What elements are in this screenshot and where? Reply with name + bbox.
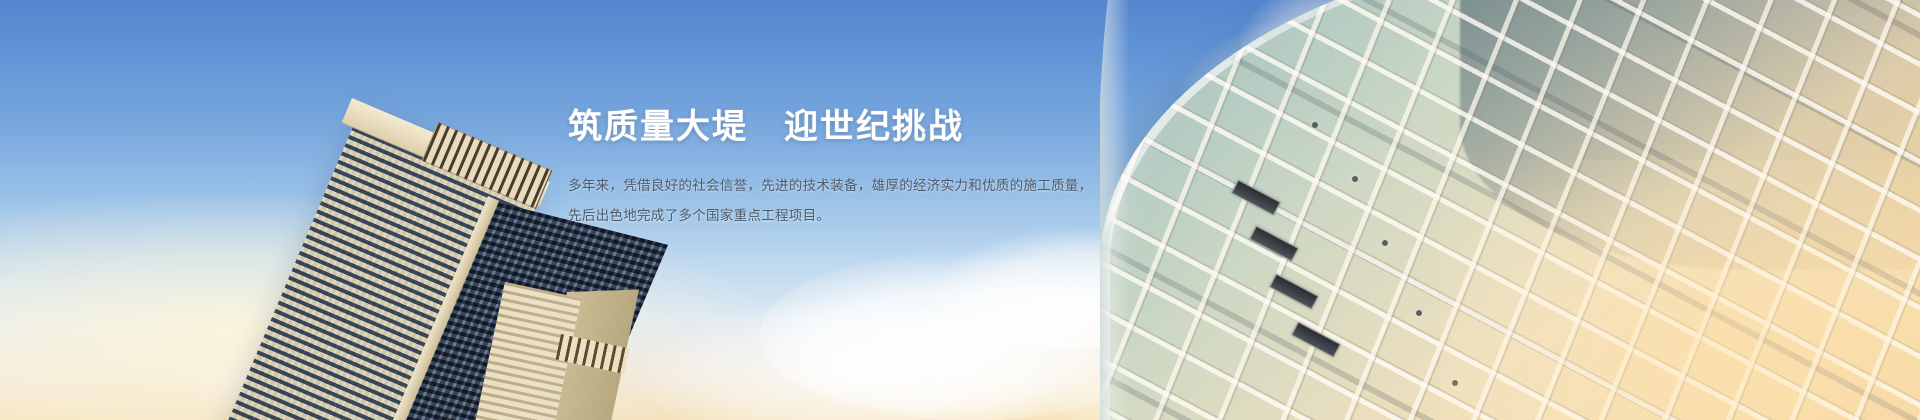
banner-copy: 筑质量大堤 迎世纪挑战 多年来，凭借良好的社会信誉，先进的技术装备，雄厚的经济实… [568, 105, 1128, 231]
right-building-bolt [1416, 310, 1422, 316]
hero-banner: 筑质量大堤 迎世纪挑战 多年来，凭借良好的社会信誉，先进的技术装备，雄厚的经济实… [0, 0, 1920, 420]
right-building-rim-highlight [1100, 0, 1920, 420]
banner-subtitle-line: 多年来，凭借良好的社会信誉，先进的技术装备，雄厚的经济实力和优质的施工质量， [568, 171, 1128, 201]
right-building-bolt [1452, 380, 1458, 386]
right-building-bolt [1382, 240, 1388, 246]
right-building-bolt [1312, 122, 1318, 128]
banner-headline: 筑质量大堤 迎世纪挑战 [568, 105, 1128, 149]
secondary-building [505, 282, 655, 420]
right-building [1100, 0, 1920, 420]
banner-subtitle: 多年来，凭借良好的社会信誉，先进的技术装备，雄厚的经济实力和优质的施工质量， 先… [568, 171, 1128, 231]
right-building-bolt [1352, 176, 1358, 182]
banner-subtitle-line: 先后出色地完成了多个国家重点工程项目。 [568, 201, 1128, 231]
